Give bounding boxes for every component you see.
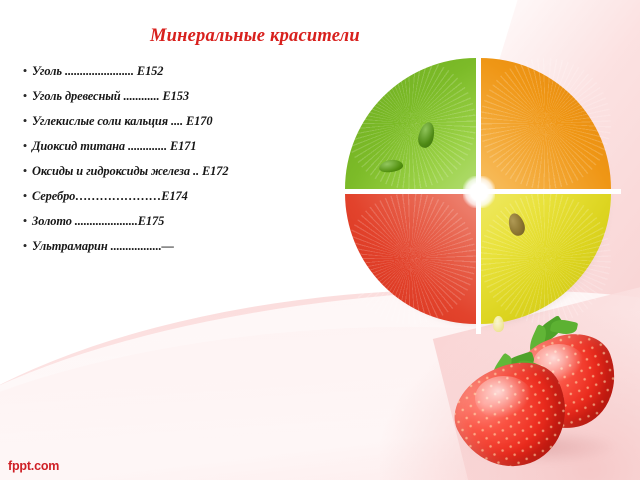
list-item-label: Уголь древесный ............ Е153 (32, 85, 189, 107)
list-item: • Оксиды и гидроксиды железа .. Е172 (18, 160, 368, 185)
bullet-marker-icon: • (18, 235, 32, 257)
bullet-marker-icon: • (18, 110, 32, 132)
strawberries-image (455, 318, 640, 468)
bullet-list: • Уголь ....................... Е152 • У… (18, 60, 368, 260)
bullet-marker-icon: • (18, 210, 32, 232)
citrus-core (463, 176, 495, 208)
citrus-quadrant-grapefruit (345, 193, 476, 324)
list-item: • Диоксид титана ............. Е171 (18, 135, 368, 160)
bullet-marker-icon: • (18, 160, 32, 182)
list-item: • Уголь древесный ............ Е153 (18, 85, 368, 110)
list-item-label: Оксиды и гидроксиды железа .. Е172 (32, 160, 228, 182)
bullet-marker-icon: • (18, 185, 32, 207)
list-item-label: Уголь ....................... Е152 (32, 60, 163, 82)
list-item: • Уголь ....................... Е152 (18, 60, 368, 85)
list-item-label: Золото .....................Е175 (32, 210, 164, 232)
bullet-marker-icon: • (18, 60, 32, 82)
presentation-slide: Минеральные красители • Уголь ..........… (0, 0, 640, 480)
citrus-quadrant-lemon (480, 193, 611, 324)
list-item: • Золото .....................Е175 (18, 210, 368, 235)
list-item-label: Ультрамарин .................— (32, 235, 174, 257)
citrus-quadrant-orange (480, 58, 611, 189)
citrus-wheel-image (345, 58, 620, 333)
fppt-watermark: fppt.com (8, 459, 59, 473)
bullet-marker-icon: • (18, 85, 32, 107)
list-item-label: Углекислые соли кальция .... Е170 (32, 110, 212, 132)
bullet-marker-icon: • (18, 135, 32, 157)
citrus-quadrant-lime (345, 58, 476, 189)
list-item-label: Диоксид титана ............. Е171 (32, 135, 196, 157)
list-item: • Углекислые соли кальция .... Е170 (18, 110, 368, 135)
slide-title: Минеральные красители (150, 26, 530, 46)
list-item: • Ультрамарин .................— (18, 235, 368, 260)
list-item: • Серебро…………………Е174 (18, 185, 368, 210)
list-item-label: Серебро…………………Е174 (32, 185, 188, 207)
